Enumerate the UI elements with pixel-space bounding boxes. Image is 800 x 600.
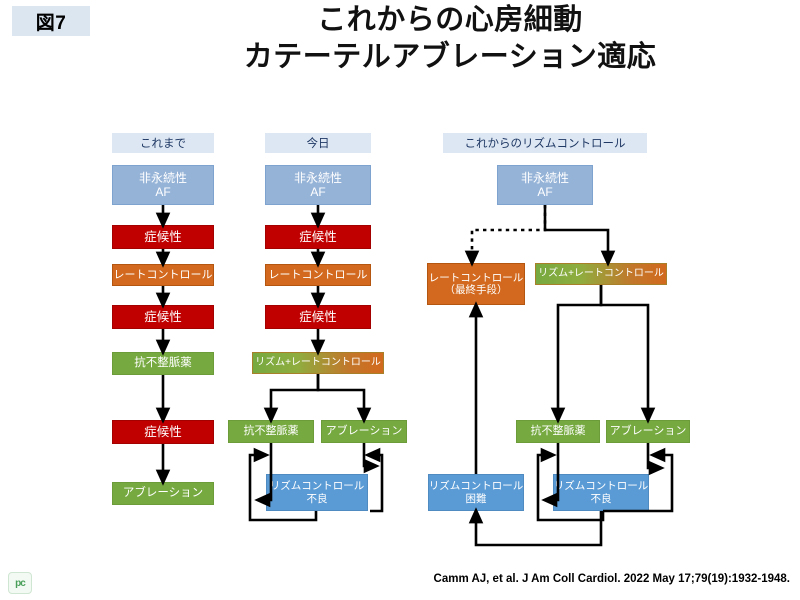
node-label: 症候性 — [299, 310, 337, 325]
flow-connectors — [0, 0, 800, 600]
title-line-1: これからの心房細動 — [317, 4, 583, 36]
node-label-sub: 困難 — [466, 493, 487, 505]
node-label: レートコントロール — [429, 272, 524, 284]
node-label-sub: （最終手段） — [445, 284, 508, 296]
node-future-antiarrhythmic[interactable]: 抗不整脈薬 — [516, 420, 600, 443]
node-future-ablation[interactable]: アブレーション — [606, 420, 690, 443]
node-future-rhythm-rate-control[interactable]: リズム+レートコントロール — [535, 263, 667, 285]
node-label-sub: AF — [310, 185, 325, 199]
node-label: リズム+レートコントロール — [255, 357, 381, 369]
node-today-rhythm-control-poor[interactable]: リズムコントロール 不良 — [266, 474, 368, 511]
node-future-rhythm-control-difficult[interactable]: リズムコントロール 困難 — [428, 474, 524, 511]
node-label-sub: 不良 — [591, 493, 612, 505]
node-today-ablation[interactable]: アブレーション — [321, 420, 407, 443]
node-past-symptomatic-1[interactable]: 症候性 — [112, 225, 214, 249]
node-label: リズムコントロール — [270, 480, 365, 492]
node-label: リズム+レートコントロール — [538, 268, 664, 280]
node-future-rate-control-last-resort[interactable]: レートコントロール （最終手段） — [427, 263, 525, 305]
node-label: 症候性 — [144, 310, 182, 325]
citation-text: Camm AJ, et al. J Am Coll Cardiol. 2022 … — [390, 573, 790, 585]
column-header-today: 今日 — [265, 133, 371, 153]
page-title: これからの心房細動 カテーテルアブレーション適応 — [120, 2, 780, 76]
node-label-sub: 不良 — [307, 493, 328, 505]
node-today-af[interactable]: 非永続性 AF — [265, 165, 371, 205]
node-label: 非永続性 — [521, 171, 569, 185]
node-label: 抗不整脈薬 — [531, 425, 586, 438]
node-label: 症候性 — [299, 230, 337, 245]
node-label: リズムコントロール — [554, 480, 649, 492]
node-label: アブレーション — [326, 425, 403, 438]
pc-logo: pc — [8, 572, 32, 594]
node-label: レートコントロール — [269, 269, 368, 282]
node-label: 症候性 — [144, 230, 182, 245]
node-today-rate-control[interactable]: レートコントロール — [265, 264, 371, 286]
connector-dashed-af-to-rate-control — [472, 205, 545, 259]
figure-number-badge: 図7 — [12, 6, 90, 36]
node-label: レートコントロール — [114, 269, 213, 282]
node-today-symptomatic-1[interactable]: 症候性 — [265, 225, 371, 249]
node-past-symptomatic-2[interactable]: 症候性 — [112, 305, 214, 329]
node-label: アブレーション — [610, 425, 687, 438]
node-label-sub: AF — [155, 185, 170, 199]
node-label-sub: AF — [537, 185, 552, 199]
node-label: リズムコントロール — [429, 480, 524, 492]
node-today-rhythm-rate-control[interactable]: リズム+レートコントロール — [252, 352, 384, 374]
node-today-symptomatic-2[interactable]: 症候性 — [265, 305, 371, 329]
node-label: 抗不整脈薬 — [244, 425, 299, 438]
node-past-rate-control[interactable]: レートコントロール — [112, 264, 214, 286]
node-label: 非永続性 — [139, 171, 187, 185]
slide-canvas: 図7 これからの心房細動 カテーテルアブレーション適応 これまで 今日 これから… — [0, 0, 800, 600]
node-label: 症候性 — [144, 425, 182, 440]
node-label: 非永続性 — [294, 171, 342, 185]
node-today-antiarrhythmic[interactable]: 抗不整脈薬 — [228, 420, 314, 443]
node-label: 抗不整脈薬 — [134, 357, 192, 371]
column-header-future: これからのリズムコントロール — [443, 133, 647, 153]
node-past-af[interactable]: 非永続性 AF — [112, 165, 214, 205]
node-past-symptomatic-3[interactable]: 症候性 — [112, 420, 214, 444]
node-past-antiarrhythmic[interactable]: 抗不整脈薬 — [112, 352, 214, 375]
node-past-ablation[interactable]: アブレーション — [112, 482, 214, 505]
title-line-2: カテーテルアブレーション適応 — [120, 39, 780, 76]
node-future-rhythm-control-poor[interactable]: リズムコントロール 不良 — [553, 474, 649, 511]
column-header-past: これまで — [112, 133, 214, 153]
node-future-af[interactable]: 非永続性 AF — [497, 165, 593, 205]
node-label: アブレーション — [123, 487, 203, 501]
